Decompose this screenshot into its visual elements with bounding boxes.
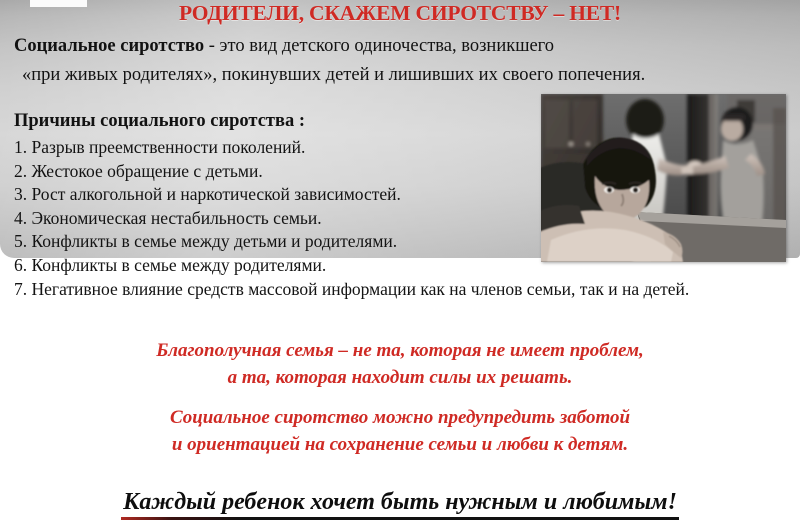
definition-paragraph: Социальное сиротство - это вид детского … xyxy=(14,32,786,90)
quote-line: а та, которая находит силы их решать. xyxy=(0,364,800,391)
quote-line: Благополучная семья – не та, которая не … xyxy=(0,337,800,364)
definition-line1-rest: - это вид детского одиночества, возникше… xyxy=(204,36,554,56)
page-title: РОДИТЕЛИ, СКАЖЕМ СИРОТСТВУ – НЕТ! xyxy=(0,1,800,26)
quote-line: Социальное сиротство можно предупредить … xyxy=(0,404,800,431)
list-item: 7. Негативное влияние средств массовой и… xyxy=(14,278,790,302)
slogan-label: Каждый ребенок хочет быть нужным и любим… xyxy=(123,489,677,515)
closing-slogan: Каждый ребенок хочет быть нужным и любим… xyxy=(0,489,800,520)
definition-term: Социальное сиротство xyxy=(14,36,204,56)
slogan-underline-rule xyxy=(121,517,679,520)
sad-boy-with-arguing-parents-photo xyxy=(541,94,786,262)
poster-canvas: РОДИТЕЛИ, СКАЖЕМ СИРОТСТВУ – НЕТ! Социал… xyxy=(0,0,800,530)
slogan-text-wrapper: Каждый ребенок хочет быть нужным и любим… xyxy=(123,489,677,520)
quote-block-wellbeing: Благополучная семья – не та, которая не … xyxy=(0,337,800,391)
definition-line2: «при живых родителях», покинувших детей … xyxy=(14,61,786,90)
quote-line: и ориентацией на сохранение семьи и любв… xyxy=(0,431,800,458)
quote-block-prevention: Социальное сиротство можно предупредить … xyxy=(0,404,800,458)
